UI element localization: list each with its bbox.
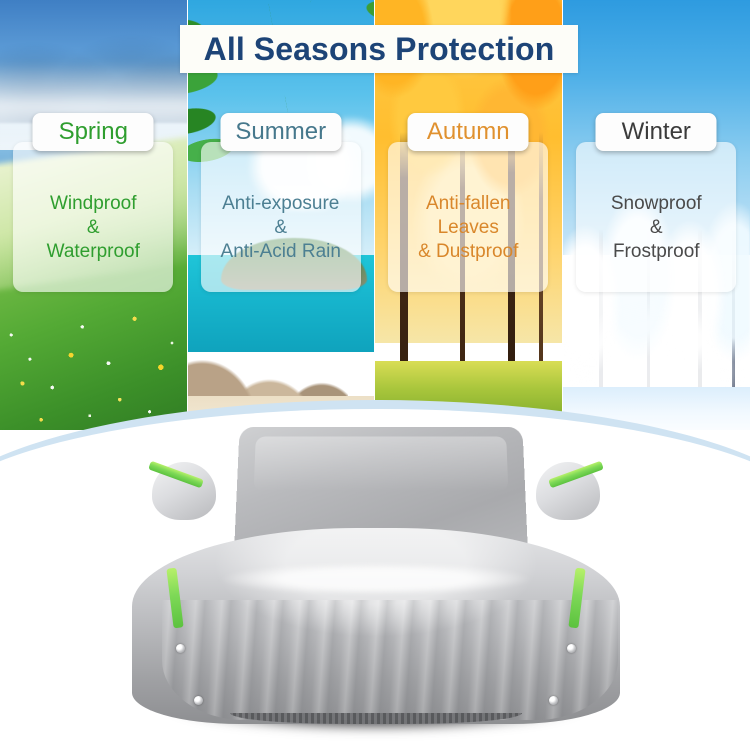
feature-line: Anti-exposure (222, 192, 339, 216)
feature-line: Snowproof (611, 192, 702, 216)
season-features-summer: Anti-exposure & Anti-Acid Rain (201, 142, 361, 292)
season-features-autumn: Anti-fallen Leaves & Dustproof (388, 142, 548, 292)
season-panel-spring: Spring Windproof & Waterproof (0, 0, 188, 440)
feature-line: Waterproof (47, 240, 140, 264)
season-label-summer: Summer (220, 113, 341, 151)
title-banner: All Seasons Protection (180, 25, 578, 73)
car-cover-product (118, 420, 634, 730)
season-features-winter: Snowproof & Frostproof (576, 142, 736, 292)
season-label-autumn: Autumn (408, 113, 529, 151)
feature-line: & (650, 216, 663, 240)
grommet-icon (194, 696, 203, 705)
product-marketing-image: Spring Windproof & Waterproof Summer (0, 0, 750, 750)
season-panel-winter: Winter Snowproof & Frostproof (563, 0, 750, 440)
season-features-spring: Windproof & Waterproof (13, 142, 173, 292)
feature-line: & (274, 216, 287, 240)
season-label-winter: Winter (596, 113, 717, 151)
car-cover-body (132, 528, 620, 724)
feature-line: Leaves (438, 216, 499, 240)
season-label-spring: Spring (33, 113, 154, 151)
feature-line: Anti-fallen (426, 192, 511, 216)
season-label-text: Spring (59, 120, 128, 144)
feature-line: Anti-Acid Rain (221, 240, 341, 264)
grommet-icon (567, 644, 576, 653)
feature-line: & Dustproof (418, 240, 518, 264)
feature-line: & (87, 216, 100, 240)
feature-line: Windproof (50, 192, 137, 216)
season-label-text: Autumn (427, 120, 510, 144)
page-title: All Seasons Protection (204, 31, 555, 68)
season-label-text: Winter (622, 120, 691, 144)
grommet-icon (176, 644, 185, 653)
feature-line: Frostproof (613, 240, 700, 264)
season-label-text: Summer (235, 120, 326, 144)
car-hood-highlight (176, 562, 576, 596)
grommet-icon (549, 696, 558, 705)
